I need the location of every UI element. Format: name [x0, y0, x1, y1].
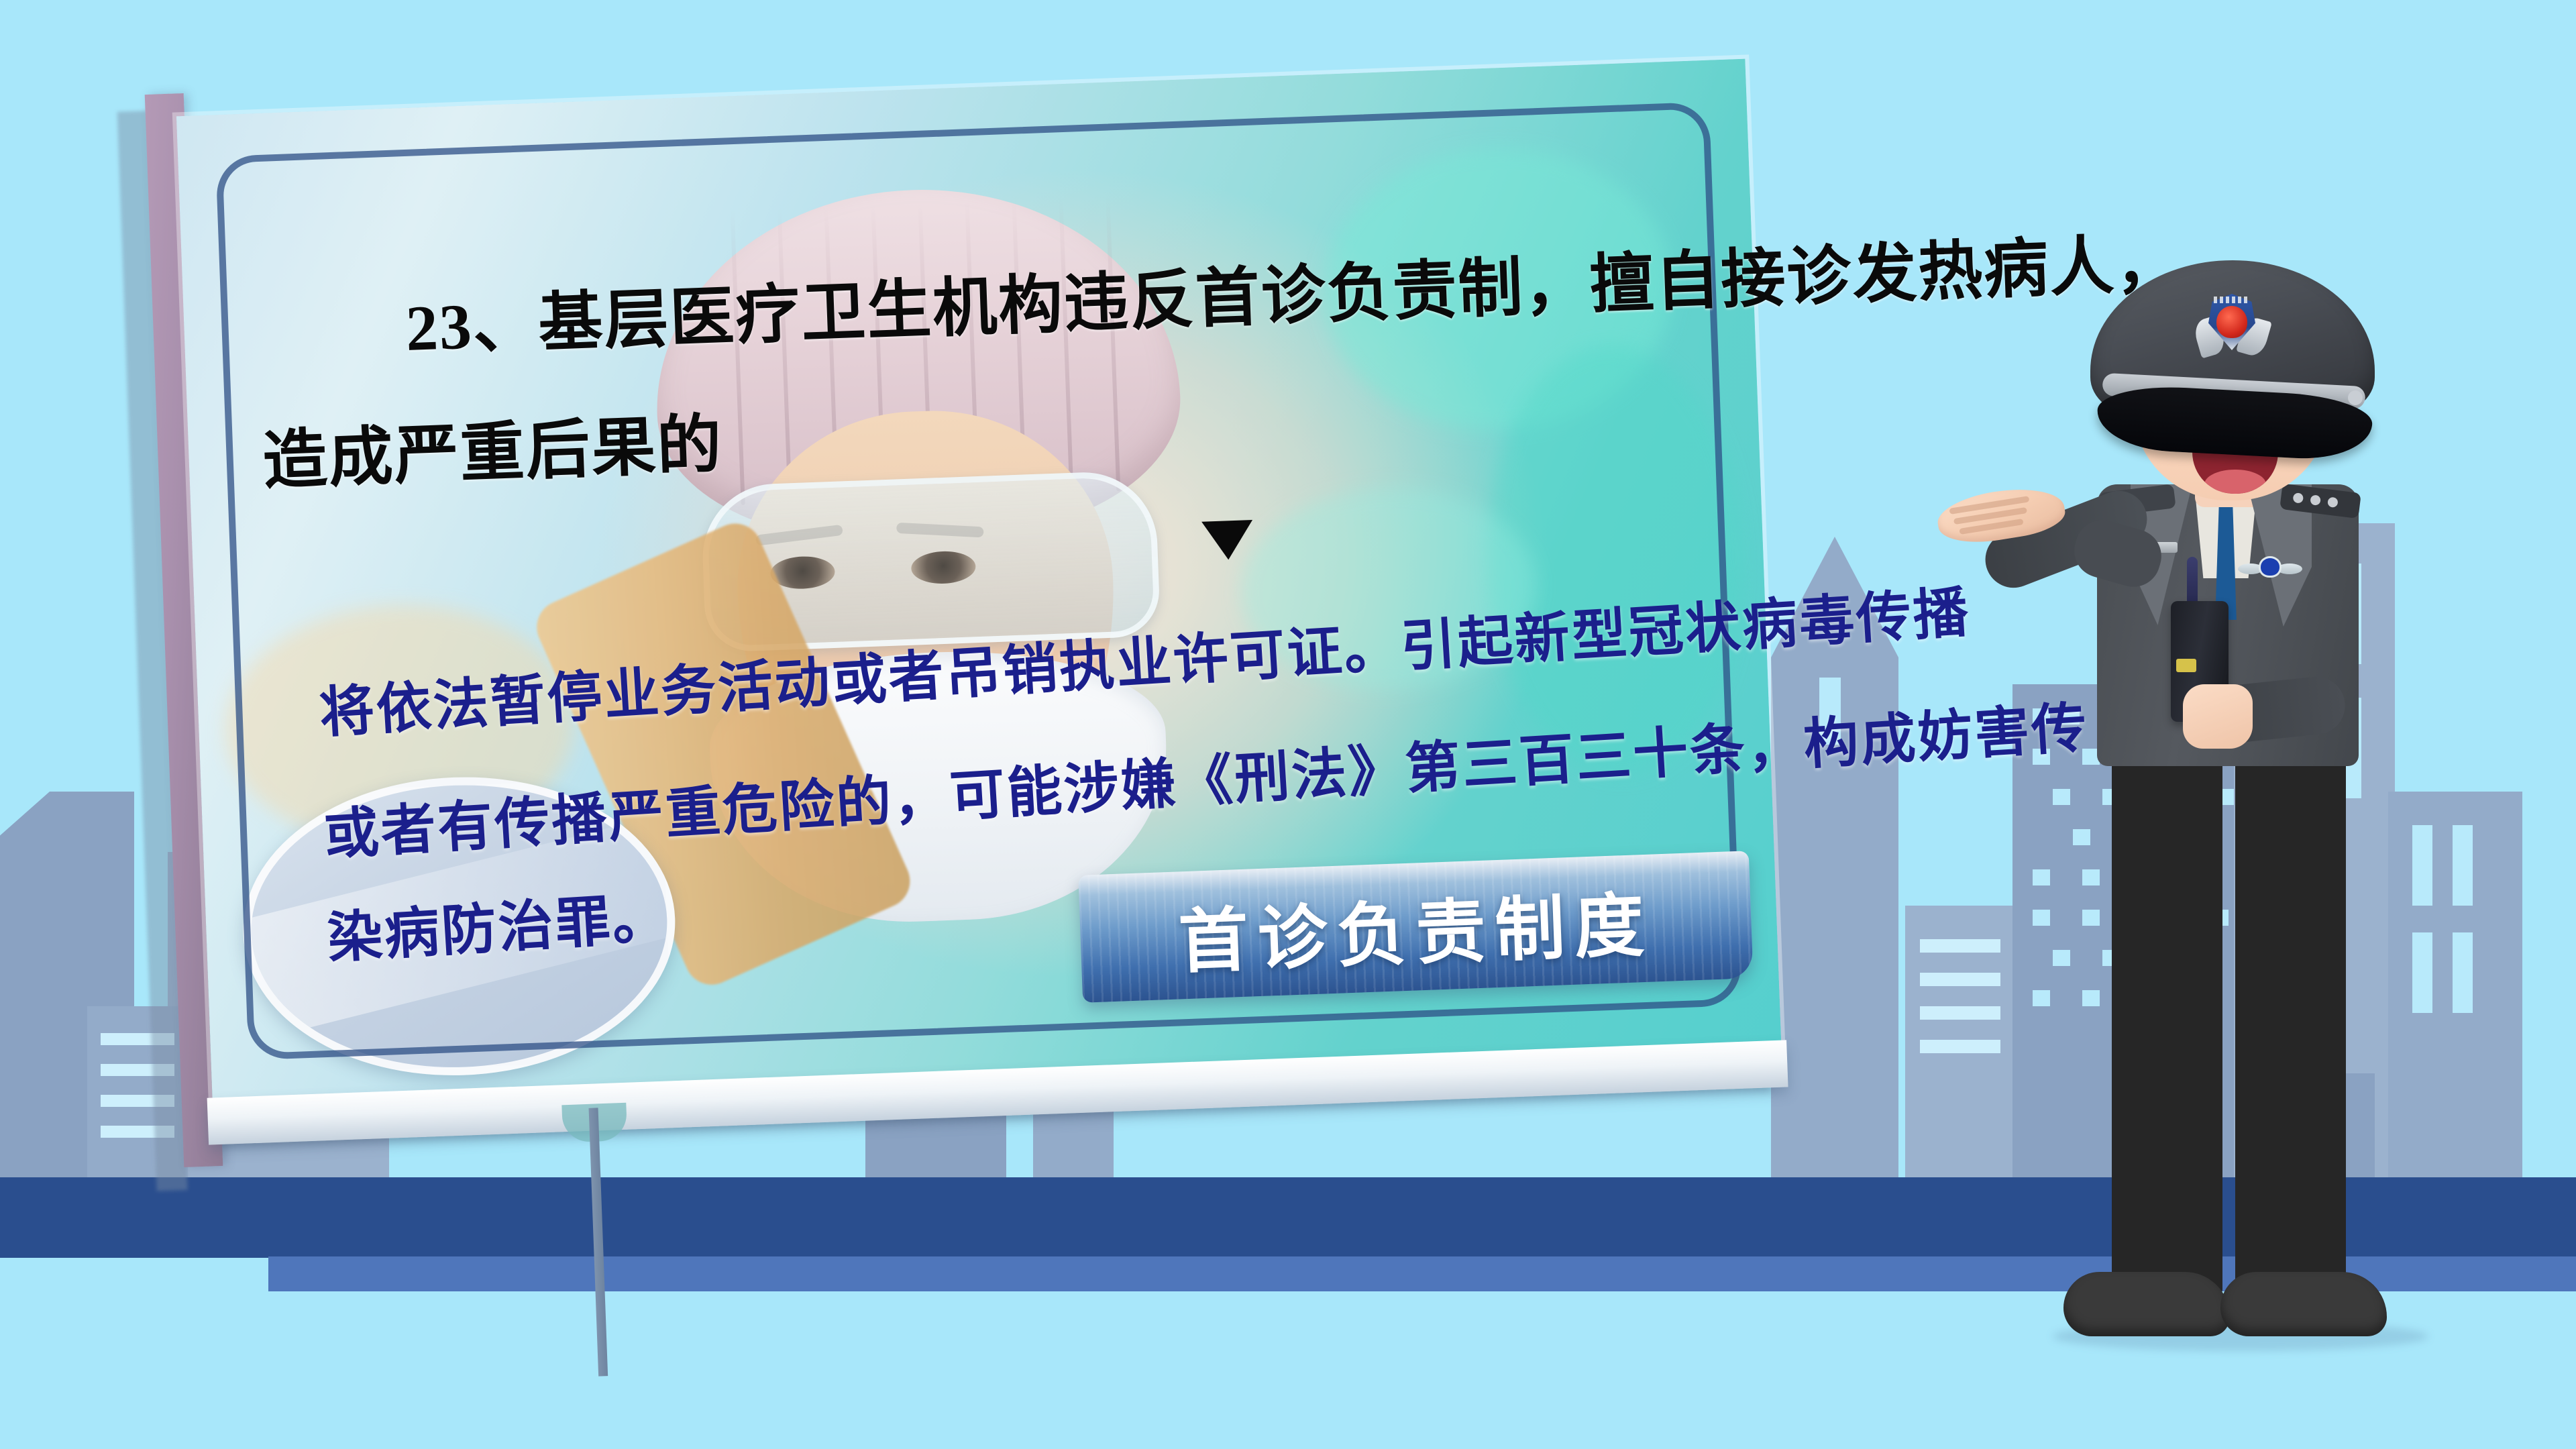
board-title-line-2: 造成严重后果的 — [261, 392, 724, 502]
officer-mouth — [2192, 452, 2278, 494]
walkie-talkie-label — [2176, 659, 2196, 672]
down-triangle-marker-icon — [1201, 520, 1254, 561]
officer-shoe — [2063, 1272, 2230, 1336]
winged-police-chest-badge-icon — [2238, 557, 2302, 580]
banner-title: 首诊负责制度 — [1177, 867, 1655, 986]
officer-right-hand — [2183, 684, 2253, 749]
chinese-police-cap-badge-icon — [2199, 291, 2265, 361]
billboard-panel: 23、基层医疗卫生机构违反首诊负责制，擅自接诊发热病人， 造成严重后果的 将依法… — [176, 59, 1782, 1136]
officer-shoe — [2220, 1272, 2387, 1336]
officer-leg — [2112, 731, 2222, 1295]
billboard: 23、基层医疗卫生机构违反首诊负责制，擅自接诊发热病人， 造成严重后果的 将依法… — [176, 59, 1782, 1136]
officer-cap-button — [2348, 390, 2363, 405]
board-banner: 首诊负责制度 — [1078, 851, 1753, 1003]
officer-leg — [2235, 731, 2346, 1295]
police-officer-character — [1932, 221, 2536, 1429]
scene-root: 23、基层医疗卫生机构违反首诊负责制，擅自接诊发热病人， 造成严重后果的 将依法… — [0, 0, 2576, 1449]
